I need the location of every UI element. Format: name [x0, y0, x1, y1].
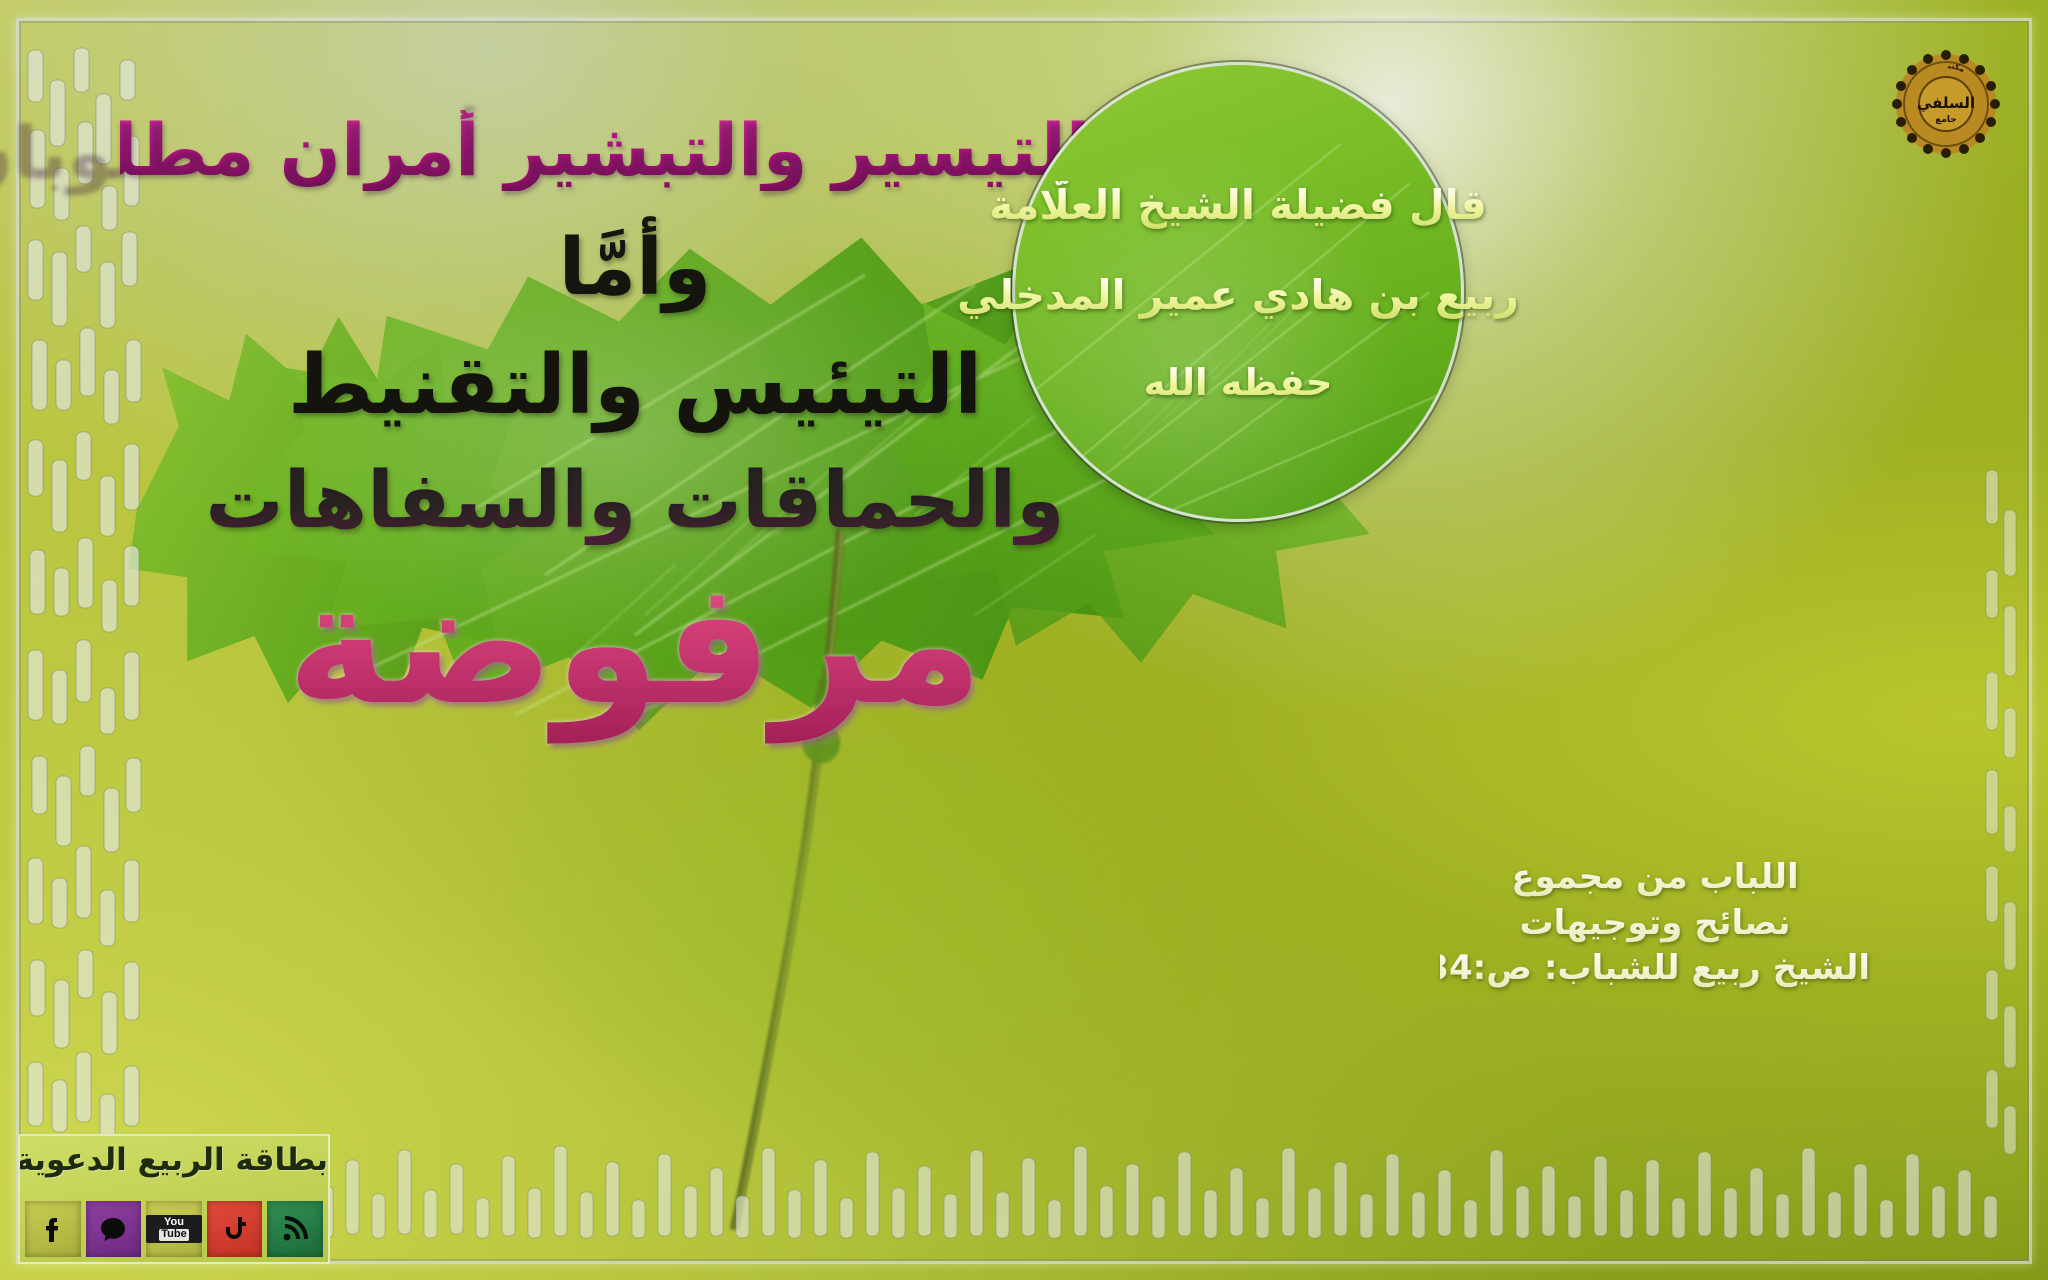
speaker-circle-text: قال فضيلة الشيخ العلَّامة ربيع بن هادي ع… — [1012, 62, 1464, 522]
speaker-dua-line: حفظه الله — [1144, 361, 1333, 404]
facebook-icon[interactable] — [25, 1201, 81, 1257]
source-attribution: اللباب من مجموع نصائح وتوجيهات الشيخ ربي… — [1440, 855, 1870, 992]
telegram-icon[interactable] — [86, 1201, 142, 1257]
quote-line-4: والحماقات والسفاهات — [120, 458, 1150, 545]
rss-icon[interactable] — [267, 1201, 323, 1257]
speaker-circle: قال فضيلة الشيخ العلَّامة ربيع بن هادي ع… — [1012, 62, 1464, 522]
svg-text:السلفي: السلفي — [1917, 94, 1975, 112]
quote-line-1: فالتيسير والتبشير أمران مطلوبان — [120, 110, 1140, 191]
speaker-name-line: ربيع بن هادي عمير المدخلي — [957, 271, 1519, 319]
twitter-icon[interactable] — [207, 1201, 263, 1257]
quote-line-3: التيئيس والتقنيط — [120, 340, 1150, 432]
speaker-title-line: قال فضيلة الشيخ العلَّامة — [989, 181, 1487, 229]
youtube-icon[interactable]: YouTube — [146, 1201, 202, 1257]
youtube-label-you: You — [164, 1216, 184, 1228]
badge-title: بطاقة الربيع الدعوية — [20, 1142, 328, 1178]
youtube-label-tube: Tube — [159, 1229, 188, 1241]
quote-line-5-emphasis: مرفوضة — [120, 549, 1150, 757]
official-seal-icon: مكتبة مسجد بن فضل الصفار السلفي جامع — [1892, 50, 2000, 158]
social-icons-row: YouTube — [25, 1201, 323, 1257]
source-line-3: الشيخ ربيع للشباب: ص:134 — [1440, 946, 1870, 992]
youtube-label: YouTube — [146, 1215, 202, 1242]
svg-text:جامع: جامع — [1935, 115, 1957, 125]
quote-card-canvas: فالتيسير والتبشير أمران مطلوبان وأمَّا ا… — [0, 0, 2048, 1280]
dawah-card-badge[interactable]: بطاقة الربيع الدعوية YouTube — [18, 1134, 330, 1264]
source-line-2: نصائح وتوجيهات — [1440, 901, 1870, 947]
source-line-1: اللباب من مجموع — [1440, 855, 1870, 901]
